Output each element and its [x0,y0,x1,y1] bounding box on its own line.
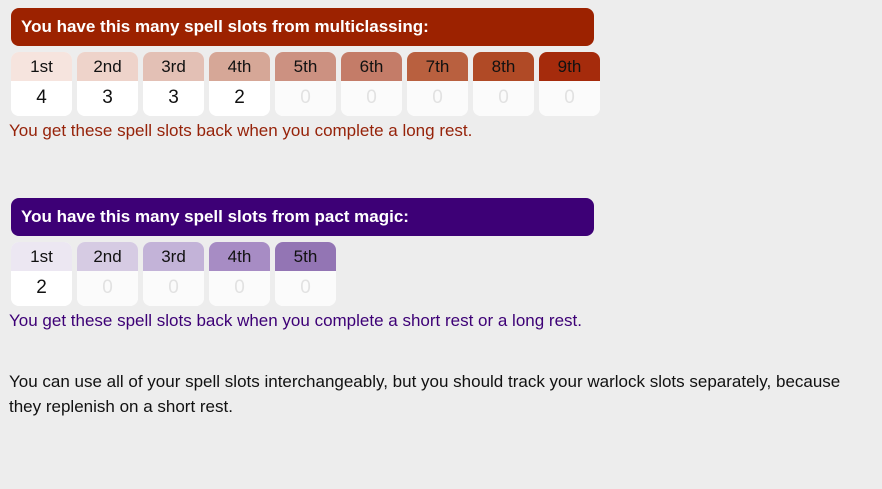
pact-magic-slot-3rd[interactable]: 3rd0 [143,242,204,306]
pact-magic-slot-2nd[interactable]: 2nd0 [77,242,138,306]
multiclass-slot-2nd[interactable]: 2nd3 [77,52,138,116]
multiclass-slot-7th[interactable]: 7th0 [407,52,468,116]
pact-magic-rest-note: You get these spell slots back when you … [9,312,582,329]
multiclass-slot-count-value: 3 [143,81,204,116]
multiclass-slot-row: 1st42nd33rd34th25th06th07th08th09th0 [11,52,600,116]
multiclass-slot-5th[interactable]: 5th0 [275,52,336,116]
multiclass-slot-count-value: 0 [539,81,600,116]
spell-slot-summary-page: You have this many spell slots from mult… [0,0,882,489]
multiclass-slot-9th[interactable]: 9th0 [539,52,600,116]
multiclass-slot-level-label: 3rd [143,52,204,81]
multiclass-slot-level-label: 7th [407,52,468,81]
multiclass-slot-count-value: 0 [341,81,402,116]
pact-magic-slot-count-value: 0 [143,271,204,306]
multiclass-slot-level-label: 2nd [77,52,138,81]
multiclass-slot-level-label: 9th [539,52,600,81]
pact-magic-slot-level-label: 1st [11,242,72,271]
pact-magic-slot-5th[interactable]: 5th0 [275,242,336,306]
multiclass-section-header: You have this many spell slots from mult… [11,8,594,46]
multiclass-rest-note: You get these spell slots back when you … [9,122,472,139]
multiclass-slot-level-label: 5th [275,52,336,81]
multiclass-slot-count-value: 0 [473,81,534,116]
multiclass-slot-count-value: 4 [11,81,72,116]
pact-magic-slot-4th[interactable]: 4th0 [209,242,270,306]
multiclass-slot-8th[interactable]: 8th0 [473,52,534,116]
closing-paragraph: You can use all of your spell slots inte… [9,369,871,419]
multiclass-slot-count-value: 3 [77,81,138,116]
pact-magic-section-header: You have this many spell slots from pact… [11,198,594,236]
multiclass-spell-slots-section: You have this many spell slots from mult… [11,8,600,116]
multiclass-slot-1st[interactable]: 1st4 [11,52,72,116]
multiclass-slot-level-label: 1st [11,52,72,81]
multiclass-slot-level-label: 6th [341,52,402,81]
multiclass-slot-4th[interactable]: 4th2 [209,52,270,116]
pact-magic-slot-level-label: 4th [209,242,270,271]
multiclass-slot-level-label: 4th [209,52,270,81]
pact-magic-slot-level-label: 3rd [143,242,204,271]
multiclass-slot-count-value: 0 [275,81,336,116]
multiclass-slot-6th[interactable]: 6th0 [341,52,402,116]
pact-magic-spell-slots-section: You have this many spell slots from pact… [11,198,594,306]
pact-magic-slot-level-label: 5th [275,242,336,271]
pact-magic-slot-count-value: 0 [77,271,138,306]
pact-magic-slot-count-value: 0 [275,271,336,306]
multiclass-slot-3rd[interactable]: 3rd3 [143,52,204,116]
pact-magic-slot-1st[interactable]: 1st2 [11,242,72,306]
pact-magic-slot-count-value: 0 [209,271,270,306]
multiclass-slot-level-label: 8th [473,52,534,81]
pact-magic-slot-row: 1st22nd03rd04th05th0 [11,242,594,306]
multiclass-slot-count-value: 0 [407,81,468,116]
pact-magic-slot-level-label: 2nd [77,242,138,271]
pact-magic-slot-count-value: 2 [11,271,72,306]
multiclass-slot-count-value: 2 [209,81,270,116]
